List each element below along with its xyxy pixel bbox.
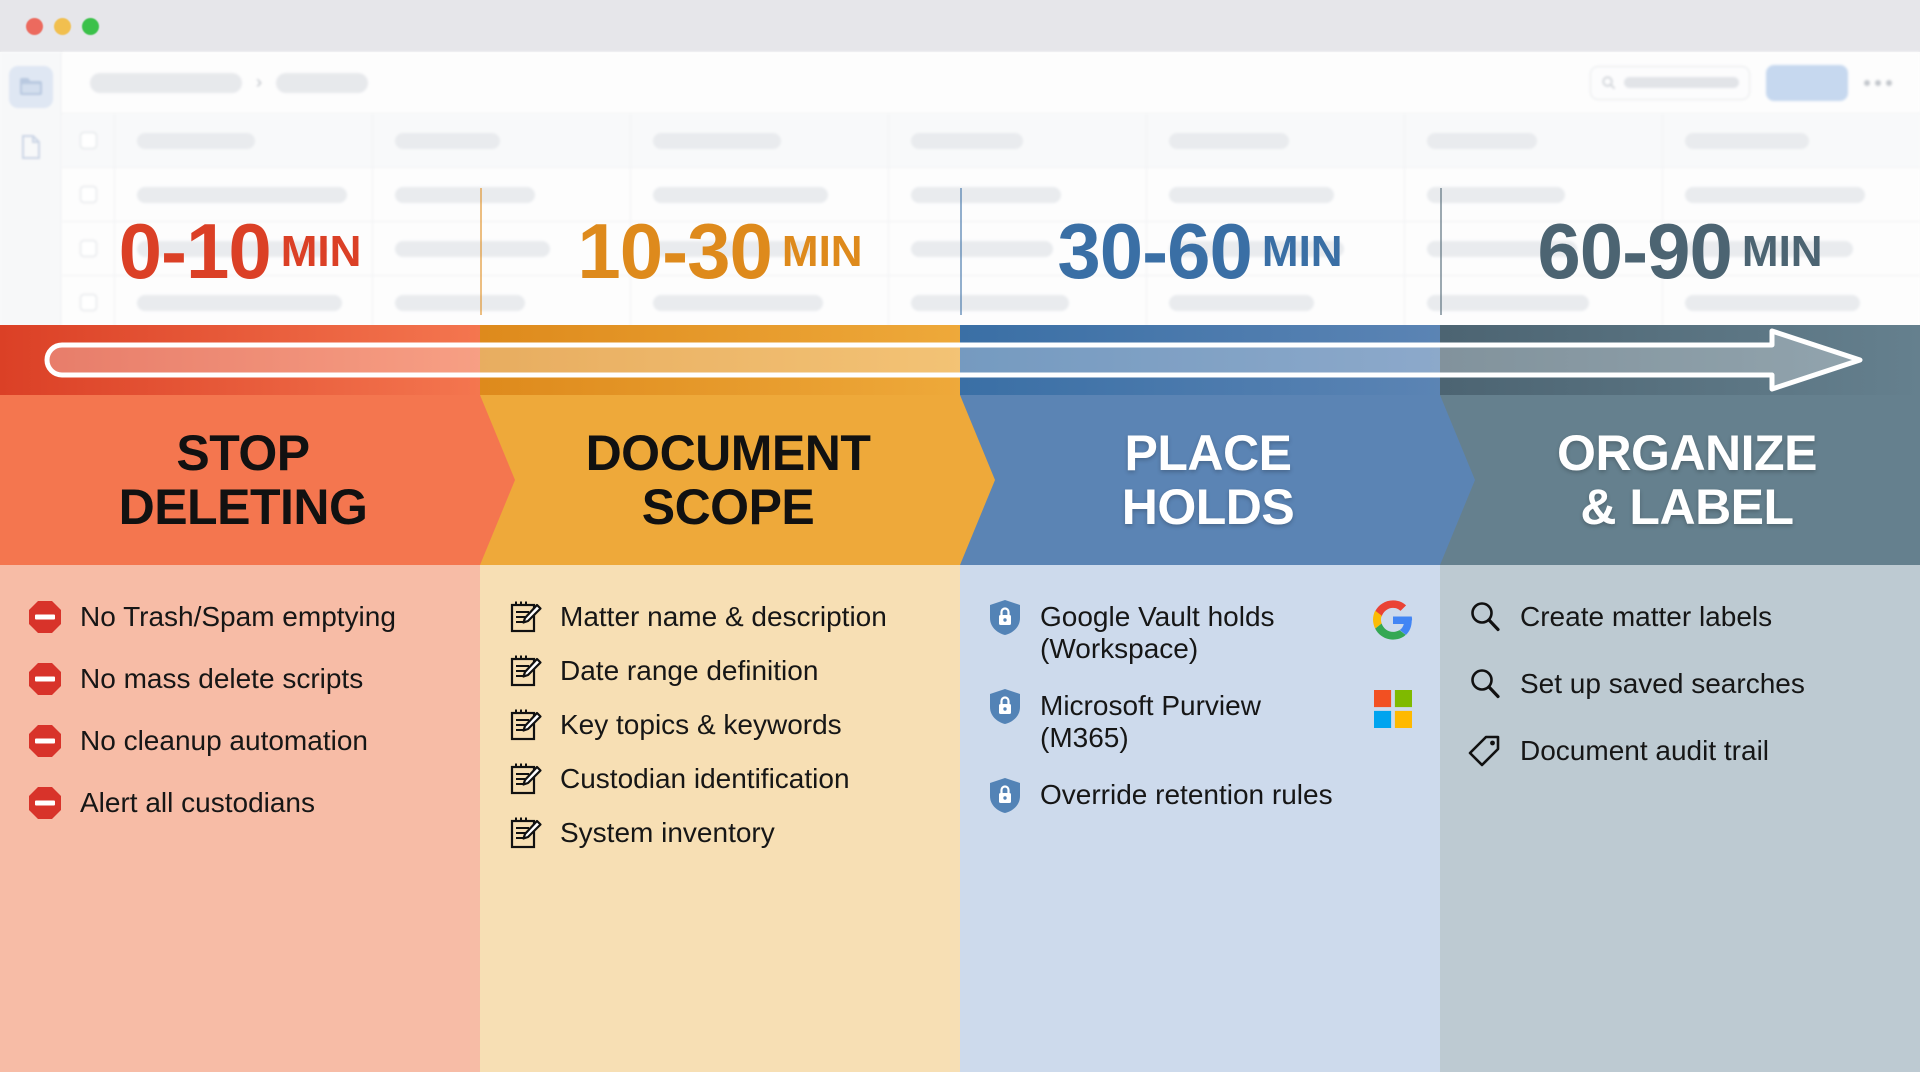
table-column-header[interactable] xyxy=(1146,114,1404,167)
stage-header-3[interactable]: PLACE HOLDS xyxy=(960,395,1476,565)
notepad-pencil-icon xyxy=(506,813,544,853)
list-item[interactable]: Custodian identification xyxy=(506,759,935,799)
timeline-stage-bodies: No Trash/Spam emptying No mass delete sc… xyxy=(0,565,1920,1072)
list-item[interactable]: No Trash/Spam emptying xyxy=(26,597,455,637)
toolbar: › xyxy=(62,52,1920,114)
overflow-menu-button[interactable] xyxy=(1864,80,1892,86)
table-header-row xyxy=(62,114,1920,168)
timeline-infographic: 0-10 MIN 10-30 MIN 30-60 MIN 60-90 MIN S… xyxy=(0,178,1920,1072)
list-item[interactable]: Google Vault holds (Workspace) xyxy=(986,597,1415,666)
stage-header-4[interactable]: ORGANIZE & LABEL xyxy=(1440,395,1920,565)
primary-action-button[interactable] xyxy=(1766,65,1848,101)
list-item[interactable]: Microsoft Purview (M365) xyxy=(986,686,1415,755)
time-label-stage-3: 30-60 MIN xyxy=(960,178,1440,325)
table-column-header[interactable] xyxy=(888,114,1146,167)
shield-lock-icon xyxy=(986,775,1024,815)
microsoft-logo xyxy=(1371,686,1415,730)
magnifier-icon xyxy=(1466,597,1504,637)
list-item[interactable]: No mass delete scripts xyxy=(26,659,455,699)
list-item[interactable]: Alert all custodians xyxy=(26,783,455,823)
notepad-pencil-icon xyxy=(506,597,544,637)
window-titlebar xyxy=(0,0,1920,52)
notepad-pencil-icon xyxy=(506,651,544,691)
dot xyxy=(1864,80,1870,86)
stage-body-1: No Trash/Spam emptying No mass delete sc… xyxy=(0,565,481,1072)
magnifier-icon xyxy=(1466,664,1504,704)
breadcrumb-item-2[interactable] xyxy=(276,73,368,93)
time-label-stage-1: 0-10 MIN xyxy=(0,178,480,325)
no-entry-icon xyxy=(26,597,64,637)
timeline-time-row: 0-10 MIN 10-30 MIN 30-60 MIN 60-90 MIN xyxy=(0,178,1920,325)
timeline-arrow-band xyxy=(0,325,1920,395)
list-item[interactable]: System inventory xyxy=(506,813,935,853)
time-divider xyxy=(1440,188,1442,315)
close-window-button[interactable] xyxy=(26,18,43,35)
tag-icon xyxy=(1466,731,1504,771)
document-icon xyxy=(20,134,42,160)
sidebar-item-document[interactable] xyxy=(9,126,53,168)
shield-lock-icon xyxy=(986,686,1024,726)
time-label-stage-2: 10-30 MIN xyxy=(480,178,960,325)
search-input[interactable] xyxy=(1590,66,1750,100)
table-column-header[interactable] xyxy=(114,114,372,167)
dot xyxy=(1886,80,1892,86)
stage-1-item-list: No Trash/Spam emptying No mass delete sc… xyxy=(26,597,455,845)
list-item[interactable]: Key topics & keywords xyxy=(506,705,935,745)
sidebar-item-folder[interactable] xyxy=(9,66,53,108)
table-column-header[interactable] xyxy=(1662,114,1920,167)
list-item[interactable]: Create matter labels xyxy=(1466,597,1895,637)
time-label-stage-4: 60-90 MIN xyxy=(1440,178,1920,325)
search-icon xyxy=(1601,75,1616,90)
time-divider xyxy=(960,188,962,315)
toolbar-actions xyxy=(1590,65,1892,101)
maximize-window-button[interactable] xyxy=(82,18,99,35)
list-item[interactable]: Date range definition xyxy=(506,651,935,691)
no-entry-icon xyxy=(26,783,64,823)
stage-header-2[interactable]: DOCUMENT SCOPE xyxy=(480,395,996,565)
stage-body-4: Create matter labels Set up saved search… xyxy=(1440,565,1920,1072)
google-logo xyxy=(1371,597,1415,641)
stage-body-2: Matter name & description Date range def… xyxy=(480,565,961,1072)
breadcrumb-item-1[interactable] xyxy=(90,73,242,93)
progress-arrow-icon xyxy=(0,325,1920,395)
breadcrumb[interactable]: › xyxy=(90,72,368,93)
list-item[interactable]: Document audit trail xyxy=(1466,731,1895,771)
stage-header-1[interactable]: STOP DELETING xyxy=(0,395,516,565)
shield-lock-icon xyxy=(986,597,1024,637)
no-entry-icon xyxy=(26,721,64,761)
list-item[interactable]: Override retention rules xyxy=(986,775,1415,815)
notepad-pencil-icon xyxy=(506,759,544,799)
time-divider xyxy=(480,188,482,315)
no-entry-icon xyxy=(26,659,64,699)
stage-body-3: Google Vault holds (Workspace) Microsoft… xyxy=(960,565,1441,1072)
stage-3-item-list: Google Vault holds (Workspace) Microsoft… xyxy=(986,597,1415,835)
dot xyxy=(1875,80,1881,86)
table-column-header[interactable] xyxy=(630,114,888,167)
list-item[interactable]: Matter name & description xyxy=(506,597,935,637)
table-column-header[interactable] xyxy=(1404,114,1662,167)
search-placeholder xyxy=(1624,77,1739,88)
notepad-pencil-icon xyxy=(506,705,544,745)
list-item[interactable]: No cleanup automation xyxy=(26,721,455,761)
stage-4-item-list: Create matter labels Set up saved search… xyxy=(1466,597,1895,798)
stage-2-item-list: Matter name & description Date range def… xyxy=(506,597,935,867)
chevron-right-icon: › xyxy=(256,72,262,93)
folder-icon xyxy=(18,76,44,98)
minimize-window-button[interactable] xyxy=(54,18,71,35)
table-column-header[interactable] xyxy=(372,114,630,167)
list-item[interactable]: Set up saved searches xyxy=(1466,664,1895,704)
timeline-stage-headers: STOP DELETING DOCUMENT SCOPE PLACE HOLDS… xyxy=(0,395,1920,565)
checkbox-icon xyxy=(80,132,97,149)
select-all-checkbox[interactable] xyxy=(62,132,114,149)
